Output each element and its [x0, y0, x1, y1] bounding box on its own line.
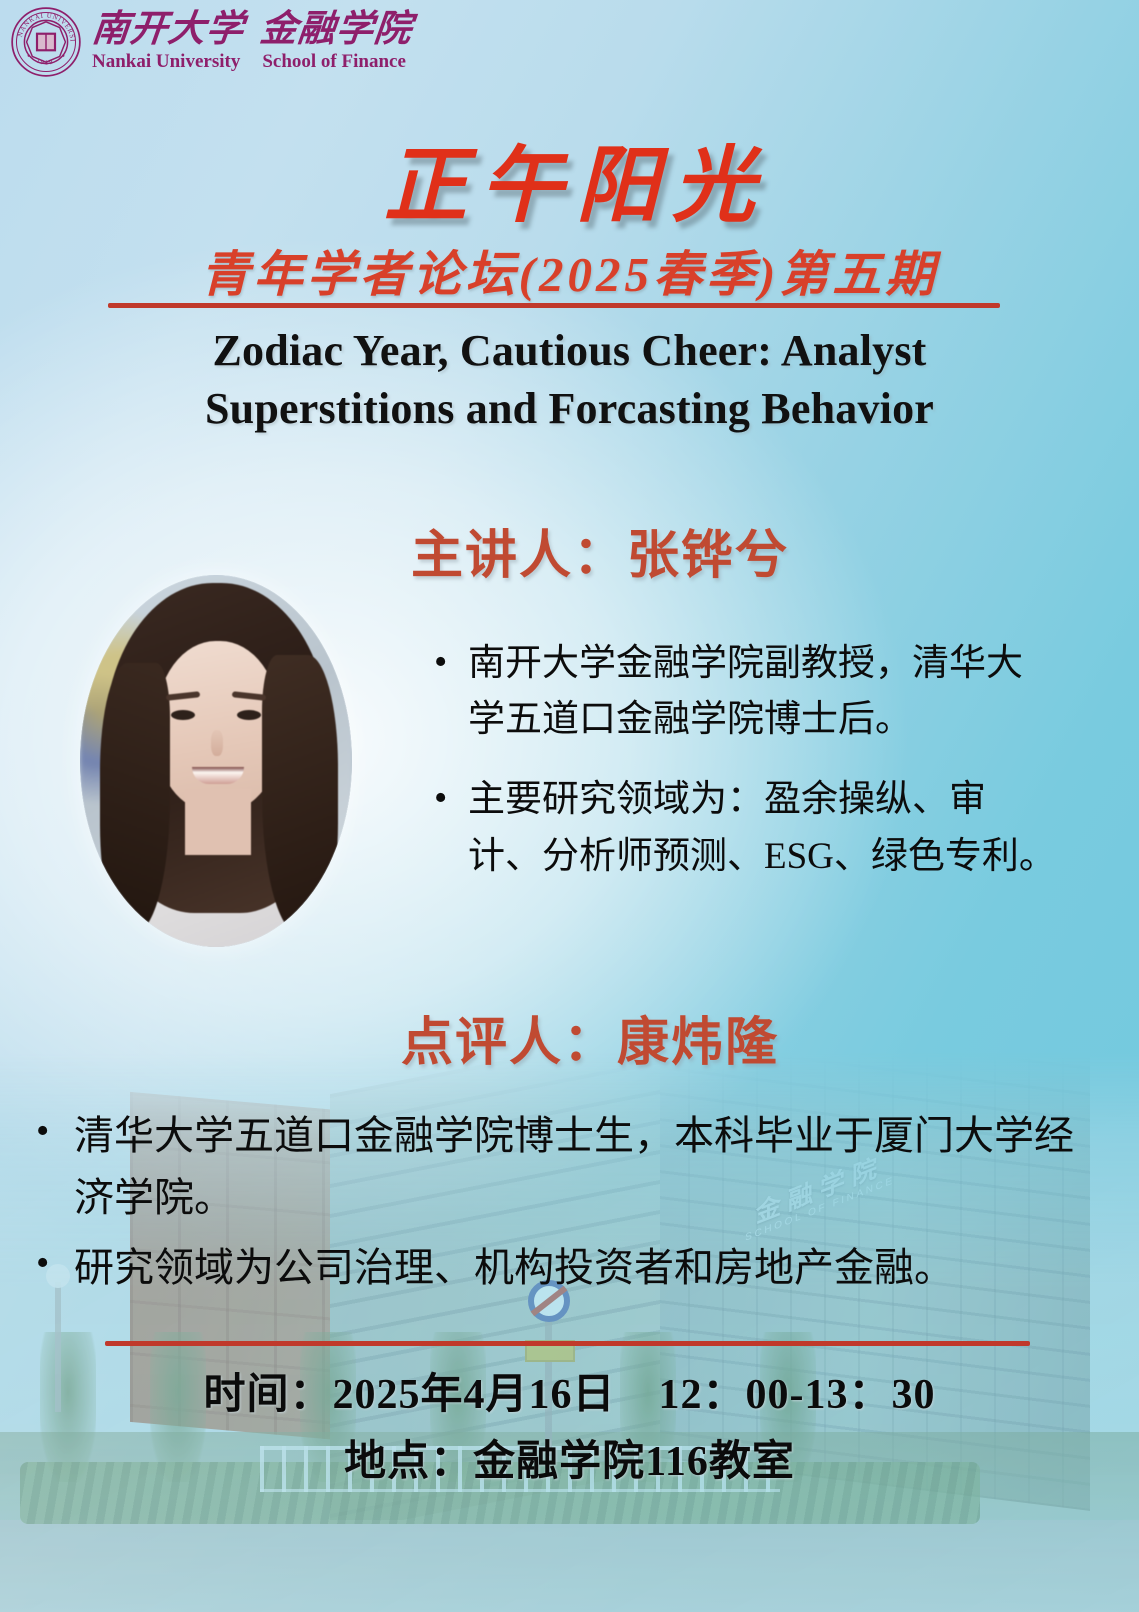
event-time: 时间：2025年4月16日 12：00-13：30: [0, 1362, 1139, 1429]
divider-bottom: [105, 1341, 1030, 1346]
list-item: 清华大学五道口金融学院博士生，本科毕业于厦门大学经济学院。: [30, 1105, 1110, 1229]
poster-main-title: 正午阳光: [0, 118, 1139, 238]
list-item: 南开大学金融学院副教授，清华大学五道口金融学院博士后。: [428, 636, 1058, 748]
logo-school-en: School of Finance: [262, 51, 406, 73]
poster-canvas: 金融学院 SCHOOL OF FINANCE: [0, 0, 1139, 1612]
commentator-role-heading: 点评人：康炜隆: [300, 1000, 880, 1075]
list-item: 主要研究领域为：盈余操纵、审计、分析师预测、ESG、绿色专利。: [428, 772, 1058, 884]
divider-top: [108, 303, 1000, 308]
poster-sub-title: 青年学者论坛(2025春季)第五期: [0, 235, 1139, 306]
event-location: 地点：金融学院116教室: [0, 1429, 1139, 1496]
speaker-bio-list: 南开大学金融学院副教授，清华大学五道口金融学院博士后。 主要研究领域为：盈余操纵…: [428, 636, 1058, 909]
svg-text:1919: 1919: [35, 58, 55, 67]
logo-chinese-row: 南开大学 金融学院: [92, 11, 412, 50]
speaker-portrait-photo: [80, 575, 352, 947]
nankai-seal-icon: NANKAI UNIVERSITY 1919: [10, 6, 82, 78]
logo-school-cn: 金融学院: [258, 11, 414, 50]
poster-english-title: Zodiac Year, Cautious Cheer: Analyst Sup…: [95, 322, 1044, 438]
commentator-bio-list: 清华大学五道口金融学院博士生，本科毕业于厦门大学经济学院。 研究领域为公司治理、…: [30, 1105, 1110, 1307]
event-details: 时间：2025年4月16日 12：00-13：30 地点：金融学院116教室: [0, 1362, 1139, 1496]
nankai-school-of-finance-logo: NANKAI UNIVERSITY 1919 南开大学 金融学院 Nankai …: [10, 6, 412, 78]
list-item: 研究领域为公司治理、机构投资者和房地产金融。: [30, 1237, 1110, 1299]
logo-university-cn: 南开大学: [90, 11, 246, 50]
logo-english-row: Nankai University School of Finance: [92, 51, 412, 73]
speaker-role-heading: 主讲人：张铧兮: [320, 513, 880, 588]
logo-university-en: Nankai University: [92, 51, 240, 73]
logo-wordmark: 南开大学 金融学院 Nankai University School of Fi…: [92, 11, 412, 73]
portrait-softening-overlay: [80, 575, 352, 947]
